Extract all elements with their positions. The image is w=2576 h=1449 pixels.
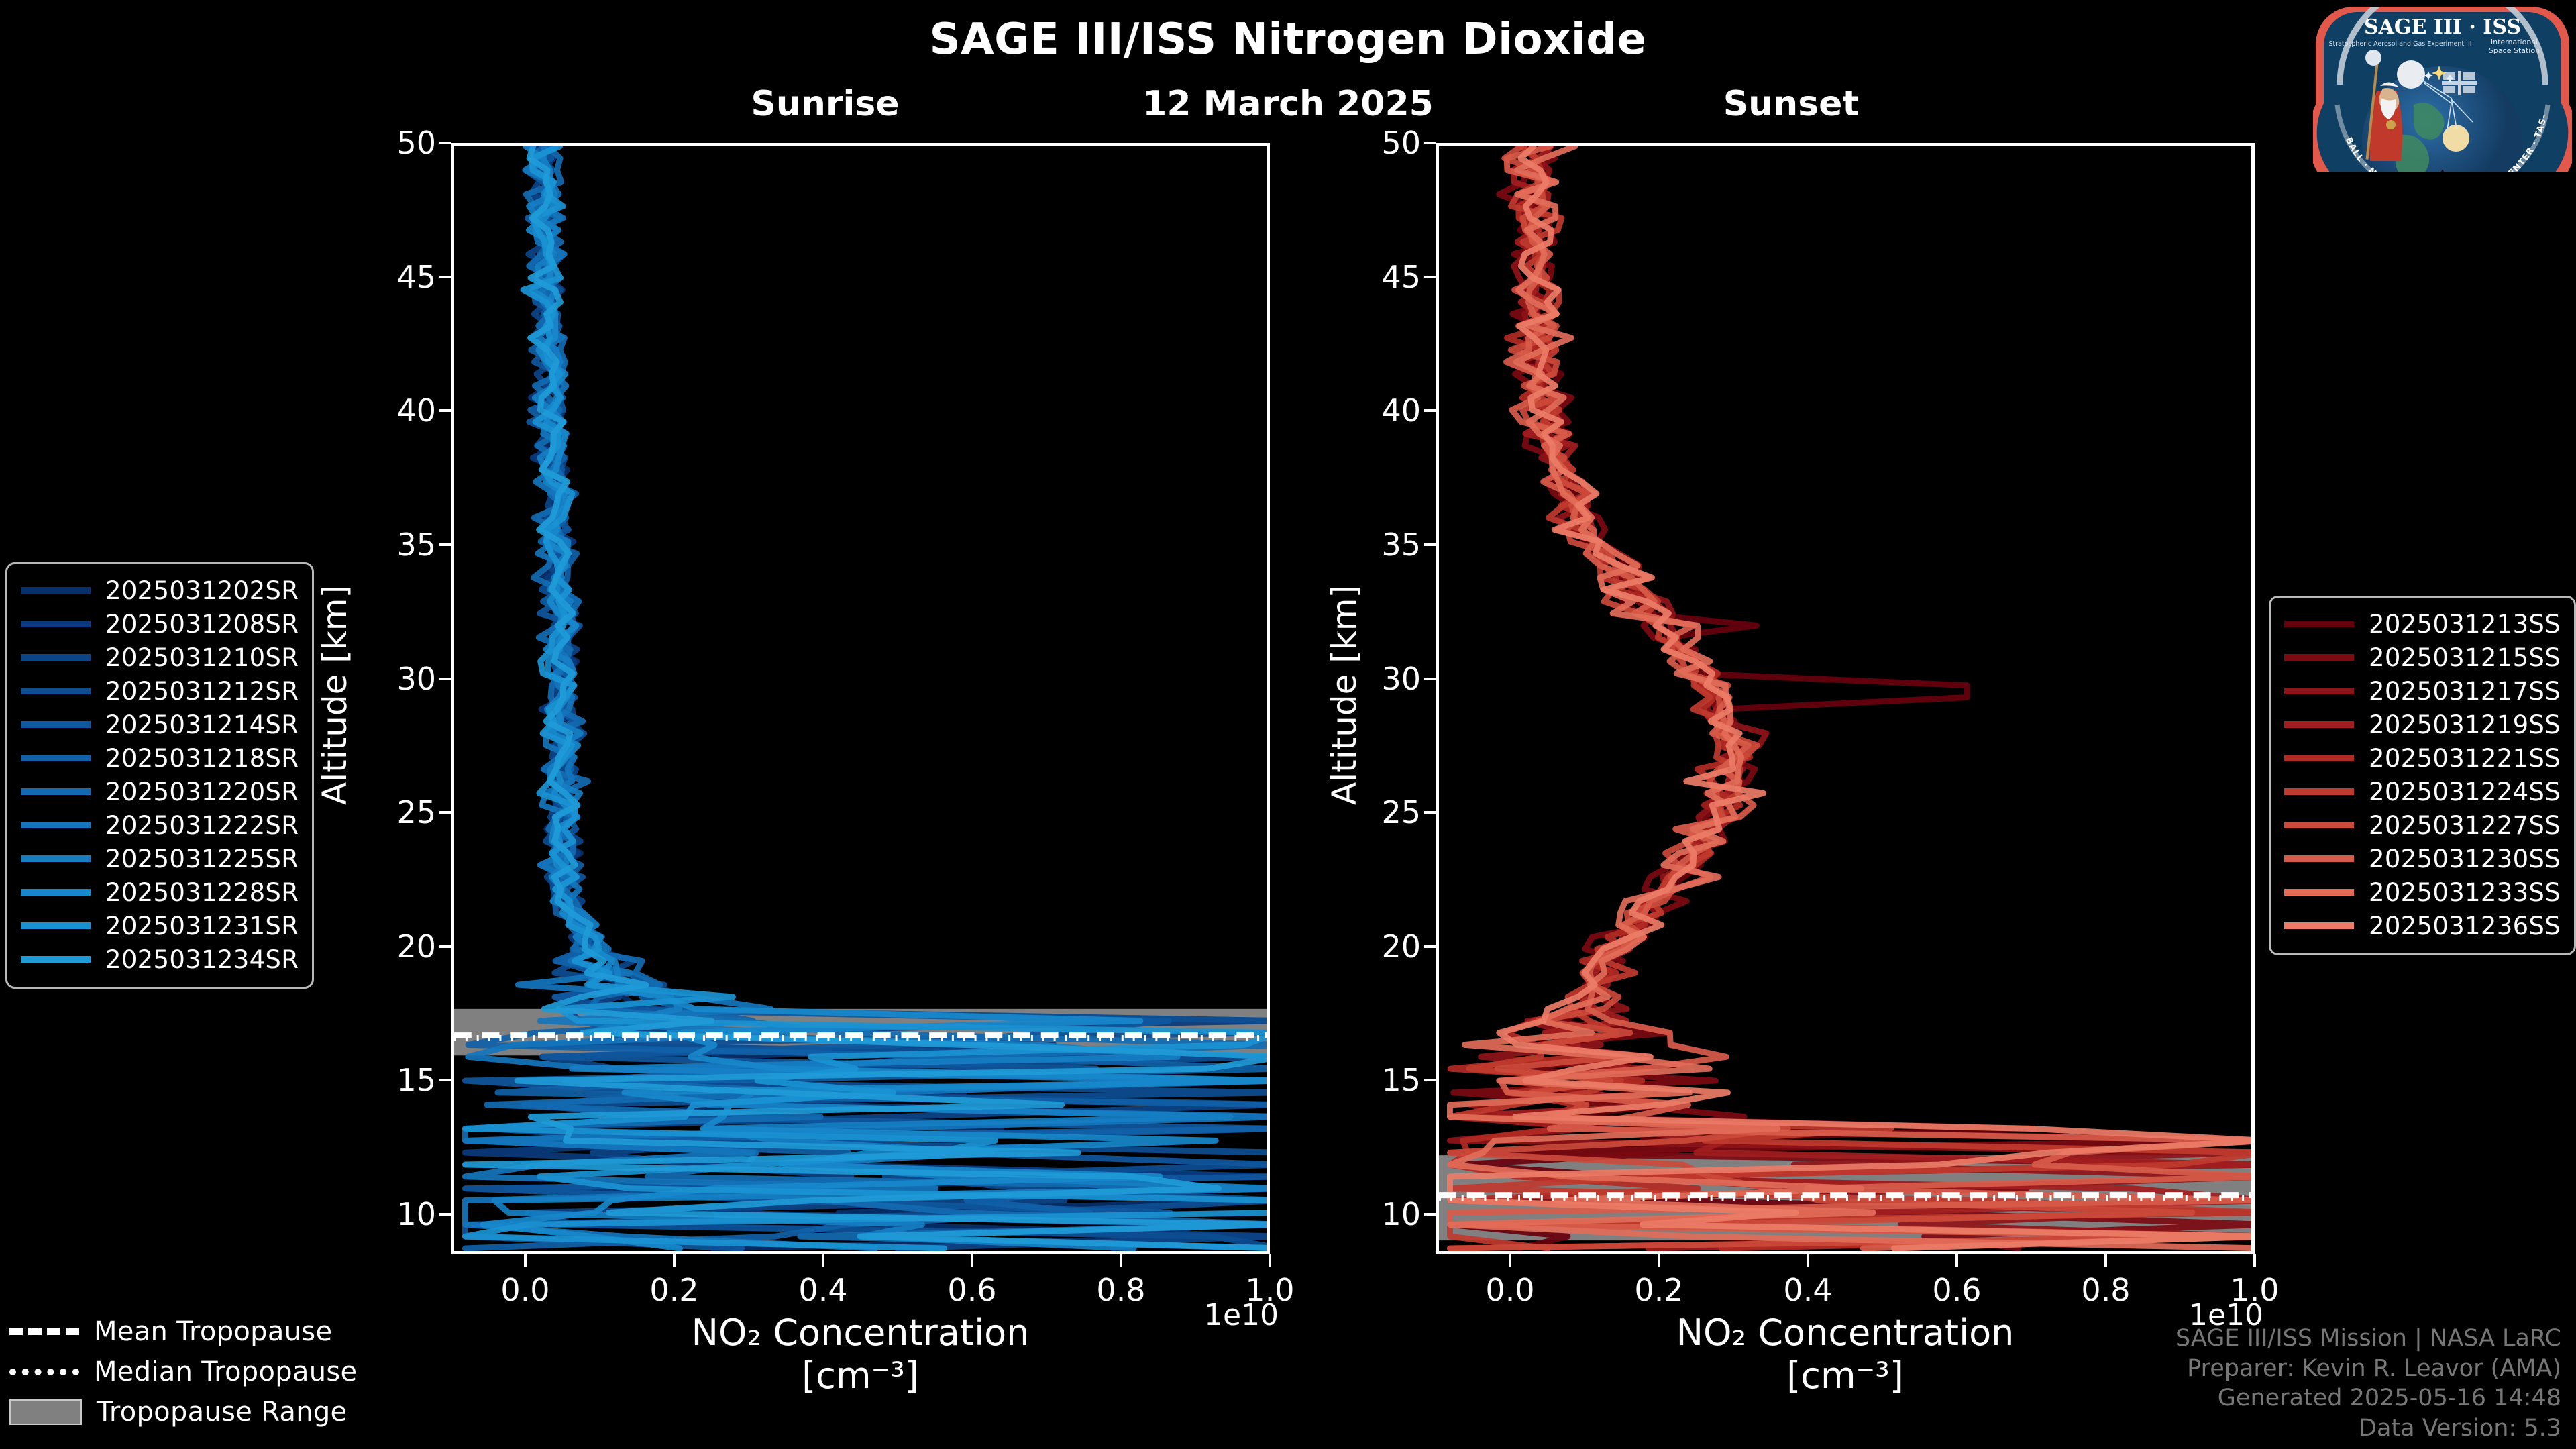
- y-tick-mark: [439, 945, 451, 948]
- x-axis-label-line1: NO₂ Concentration: [1676, 1311, 2015, 1354]
- x-tick-mark: [1269, 1254, 1271, 1267]
- tropopause-legend-label: Mean Tropopause: [94, 1316, 332, 1347]
- y-tick-label: 10: [335, 1196, 436, 1232]
- y-tick-mark: [1424, 543, 1436, 546]
- legend-item-label: 2025031221SS: [2369, 744, 2561, 773]
- y-tick-label: 15: [1320, 1062, 1421, 1098]
- legend-color-swatch: [2284, 688, 2354, 694]
- iss-icon: [2442, 71, 2477, 95]
- legend-item-label: 2025031236SS: [2369, 912, 2561, 941]
- legend-item[interactable]: 2025031202SR: [21, 574, 299, 607]
- legend-item[interactable]: 2025031224SS: [2284, 775, 2561, 808]
- legend-item-label: 2025031214SR: [105, 710, 299, 739]
- y-tick-label: 15: [335, 1062, 436, 1098]
- sunrise-panel-label: Sunrise: [604, 84, 1046, 124]
- y-tick-label: 40: [1320, 392, 1421, 429]
- y-tick-label: 35: [1320, 527, 1421, 563]
- y-tick-mark: [439, 276, 451, 278]
- y-tick-mark: [1424, 276, 1436, 278]
- profile-line: [1450, 146, 2251, 1248]
- y-tick-mark: [439, 409, 451, 412]
- y-tick-mark: [1424, 142, 1436, 144]
- x-axis-label-line1: NO₂ Concentration: [692, 1311, 1030, 1354]
- legend-color-swatch: [2284, 889, 2354, 896]
- legend-item-label: 2025031213SS: [2369, 610, 2561, 639]
- x-tick-mark: [971, 1254, 973, 1267]
- x-tick-label: 0.2: [607, 1272, 741, 1308]
- x-tick-label: 0.6: [1890, 1272, 2024, 1308]
- legend-color-swatch: [2284, 822, 2354, 828]
- legend-item[interactable]: 2025031221SS: [2284, 741, 2561, 775]
- x-tick-mark: [2253, 1254, 2256, 1267]
- sunset-plot-panel: [1436, 143, 2255, 1254]
- sunrise-plot-panel: [451, 143, 1270, 1254]
- tropopause-legend-item: Median Tropopause: [9, 1352, 357, 1392]
- y-tick-label: 45: [1320, 259, 1421, 295]
- y-tick-label: 10: [1320, 1196, 1421, 1232]
- legend-color-swatch: [21, 956, 91, 963]
- legend-color-swatch: [2284, 654, 2354, 661]
- x-tick-label: 0.0: [1443, 1272, 1577, 1308]
- tropopause-legend-swatch: [9, 1368, 79, 1375]
- x-tick-mark: [2104, 1254, 2107, 1267]
- sage-iii-iss-mission-patch-logo: SAGE III · ISS Stratospheric Aerosol and…: [2313, 4, 2572, 172]
- legend-color-swatch: [21, 688, 91, 694]
- legend-item-label: 2025031230SS: [2369, 845, 2561, 873]
- legend-color-swatch: [2284, 621, 2354, 627]
- credits-block: SAGE III/ISS Mission | NASA LaRC Prepare…: [2176, 1324, 2561, 1444]
- x-tick-mark: [1955, 1254, 1958, 1267]
- y-tick-mark: [1424, 811, 1436, 814]
- tropopause-legend-label: Tropopause Range: [97, 1397, 347, 1428]
- sunset-profile-plot: [1439, 146, 2251, 1251]
- sunset-legend[interactable]: 2025031213SS2025031215SS2025031217SS2025…: [2269, 596, 2576, 955]
- tropopause-legend-label: Median Tropopause: [94, 1356, 357, 1387]
- legend-item[interactable]: 2025031234SR: [21, 943, 299, 976]
- legend-item-label: 2025031224SS: [2369, 777, 2561, 806]
- tropopause-legend-swatch: [9, 1328, 79, 1335]
- x-tick-label: 0.6: [905, 1272, 1039, 1308]
- x-tick-mark: [822, 1254, 824, 1267]
- legend-color-swatch: [21, 822, 91, 828]
- legend-item[interactable]: 2025031210SR: [21, 641, 299, 674]
- tropopause-legend-item: Tropopause Range: [9, 1392, 357, 1432]
- y-tick-label: 45: [335, 259, 436, 295]
- sun-icon: [2443, 125, 2469, 152]
- tropopause-legend-swatch: [9, 1399, 82, 1425]
- x-tick-label: 0.8: [2039, 1272, 2173, 1308]
- legend-color-swatch: [21, 621, 91, 627]
- y-tick-mark: [439, 811, 451, 814]
- legend-color-swatch: [21, 721, 91, 728]
- y-tick-mark: [1424, 678, 1436, 680]
- legend-color-swatch: [2284, 922, 2354, 929]
- legend-color-swatch: [21, 855, 91, 862]
- x-tick-label: 0.8: [1054, 1272, 1188, 1308]
- legend-color-swatch: [21, 889, 91, 896]
- patch-iss-line1: International: [2491, 38, 2538, 46]
- x-tick-mark: [1658, 1254, 1660, 1267]
- legend-item-label: 2025031234SR: [105, 945, 299, 974]
- sunset-y-axis-label: Altitude [km]: [1325, 585, 1364, 805]
- patch-iss-line2: Space Station: [2489, 46, 2540, 55]
- legend-color-swatch: [2284, 855, 2354, 862]
- credits-line-mission: SAGE III/ISS Mission | NASA LaRC: [2176, 1324, 2561, 1354]
- x-tick-mark: [673, 1254, 676, 1267]
- y-tick-label: 50: [335, 125, 436, 161]
- x-tick-mark: [1509, 1254, 1511, 1267]
- y-tick-label: 20: [335, 928, 436, 965]
- x-tick-mark: [524, 1254, 527, 1267]
- sunrise-x-axis-label: NO₂ Concentration [cm⁻³]: [451, 1311, 1270, 1397]
- sunrise-profile-plot: [454, 146, 1267, 1251]
- tropopause-legend: Mean TropopauseMedian TropopauseTropopau…: [9, 1311, 357, 1432]
- legend-item[interactable]: 2025031231SR: [21, 909, 299, 943]
- sunset-panel-label: Sunset: [1570, 84, 2012, 124]
- legend-item-label: 2025031212SR: [105, 677, 299, 706]
- legend-item[interactable]: 2025031228SR: [21, 875, 299, 909]
- sunrise-y-axis-label: Altitude [km]: [315, 585, 354, 805]
- y-tick-label: 20: [1320, 928, 1421, 965]
- legend-item[interactable]: 2025031218SR: [21, 741, 299, 775]
- legend-color-swatch: [2284, 788, 2354, 795]
- x-tick-label: 0.4: [756, 1272, 890, 1308]
- legend-item[interactable]: 2025031212SR: [21, 674, 299, 708]
- x-tick-label: 0.4: [1741, 1272, 1875, 1308]
- x-axis-label-line2: [cm⁻³]: [1786, 1354, 1904, 1397]
- legend-item-label: 2025031208SR: [105, 610, 299, 639]
- legend-item-label: 2025031210SR: [105, 643, 299, 672]
- patch-title-text: SAGE III · ISS: [2364, 15, 2521, 39]
- legend-item[interactable]: 2025031225SR: [21, 842, 299, 875]
- credits-line-version: Data Version: 5.3: [2176, 1413, 2561, 1444]
- legend-item-label: 2025031215SS: [2369, 643, 2561, 672]
- legend-color-swatch: [21, 587, 91, 594]
- credits-line-preparer: Preparer: Kevin R. Leavor (AMA): [2176, 1354, 2561, 1384]
- credits-line-generated: Generated 2025-05-16 14:48: [2176, 1383, 2561, 1413]
- x-tick-label: 0.0: [458, 1272, 592, 1308]
- legend-color-swatch: [21, 788, 91, 795]
- legend-item-label: 2025031222SR: [105, 811, 299, 840]
- y-tick-label: 50: [1320, 125, 1421, 161]
- x-tick-label: 0.2: [1592, 1272, 1726, 1308]
- moon-icon: [2397, 60, 2425, 89]
- legend-color-swatch: [21, 654, 91, 661]
- y-tick-label: 40: [335, 392, 436, 429]
- sunrise-x-axis-offset: 1e10: [1204, 1298, 1279, 1332]
- x-tick-mark: [1807, 1254, 1809, 1267]
- legend-item[interactable]: 2025031233SS: [2284, 875, 2561, 909]
- legend-item[interactable]: 2025031227SS: [2284, 808, 2561, 842]
- legend-item[interactable]: 2025031236SS: [2284, 909, 2561, 943]
- legend-item-label: 2025031202SR: [105, 576, 299, 605]
- legend-color-swatch: [21, 922, 91, 929]
- page-title: SAGE III/ISS Nitrogen Dioxide: [0, 15, 2576, 64]
- legend-color-swatch: [2284, 721, 2354, 728]
- legend-item-label: 2025031227SS: [2369, 811, 2561, 840]
- legend-item-label: 2025031231SR: [105, 912, 299, 941]
- y-tick-mark: [1424, 1213, 1436, 1216]
- legend-item-label: 2025031233SS: [2369, 878, 2561, 907]
- tropopause-legend-item: Mean Tropopause: [9, 1311, 357, 1352]
- y-tick-mark: [1424, 409, 1436, 412]
- y-tick-label: 35: [335, 527, 436, 563]
- legend-item[interactable]: 2025031220SR: [21, 775, 299, 808]
- legend-item-label: 2025031217SS: [2369, 677, 2561, 706]
- y-tick-mark: [1424, 945, 1436, 948]
- sunset-x-axis-label: NO₂ Concentration [cm⁻³]: [1436, 1311, 2255, 1397]
- legend-color-swatch: [2284, 755, 2354, 761]
- legend-item-label: 2025031228SR: [105, 878, 299, 907]
- y-tick-mark: [439, 1079, 451, 1081]
- legend-item[interactable]: 2025031208SR: [21, 607, 299, 641]
- legend-color-swatch: [21, 755, 91, 761]
- y-tick-mark: [439, 142, 451, 144]
- x-tick-mark: [1120, 1254, 1122, 1267]
- y-tick-mark: [1424, 1079, 1436, 1081]
- legend-item[interactable]: 2025031230SS: [2284, 842, 2561, 875]
- legend-item[interactable]: 2025031217SS: [2284, 674, 2561, 708]
- legend-item[interactable]: 2025031222SR: [21, 808, 299, 842]
- y-tick-mark: [439, 543, 451, 546]
- y-tick-mark: [439, 678, 451, 680]
- patch-subtitle-text: Stratospheric Aerosol and Gas Experiment…: [2328, 40, 2471, 48]
- sunrise-legend[interactable]: 2025031202SR2025031208SR2025031210SR2025…: [5, 562, 314, 989]
- legend-item[interactable]: 2025031215SS: [2284, 641, 2561, 674]
- legend-item-label: 2025031220SR: [105, 777, 299, 806]
- legend-item-label: 2025031219SS: [2369, 710, 2561, 739]
- x-axis-label-line2: [cm⁻³]: [802, 1354, 919, 1397]
- legend-item-label: 2025031218SR: [105, 744, 299, 773]
- chart-subtitle-date: 12 March 2025: [0, 84, 2576, 124]
- legend-item-label: 2025031225SR: [105, 845, 299, 873]
- legend-item[interactable]: 2025031214SR: [21, 708, 299, 741]
- y-tick-mark: [439, 1213, 451, 1216]
- legend-item[interactable]: 2025031213SS: [2284, 607, 2561, 641]
- legend-item[interactable]: 2025031219SS: [2284, 708, 2561, 741]
